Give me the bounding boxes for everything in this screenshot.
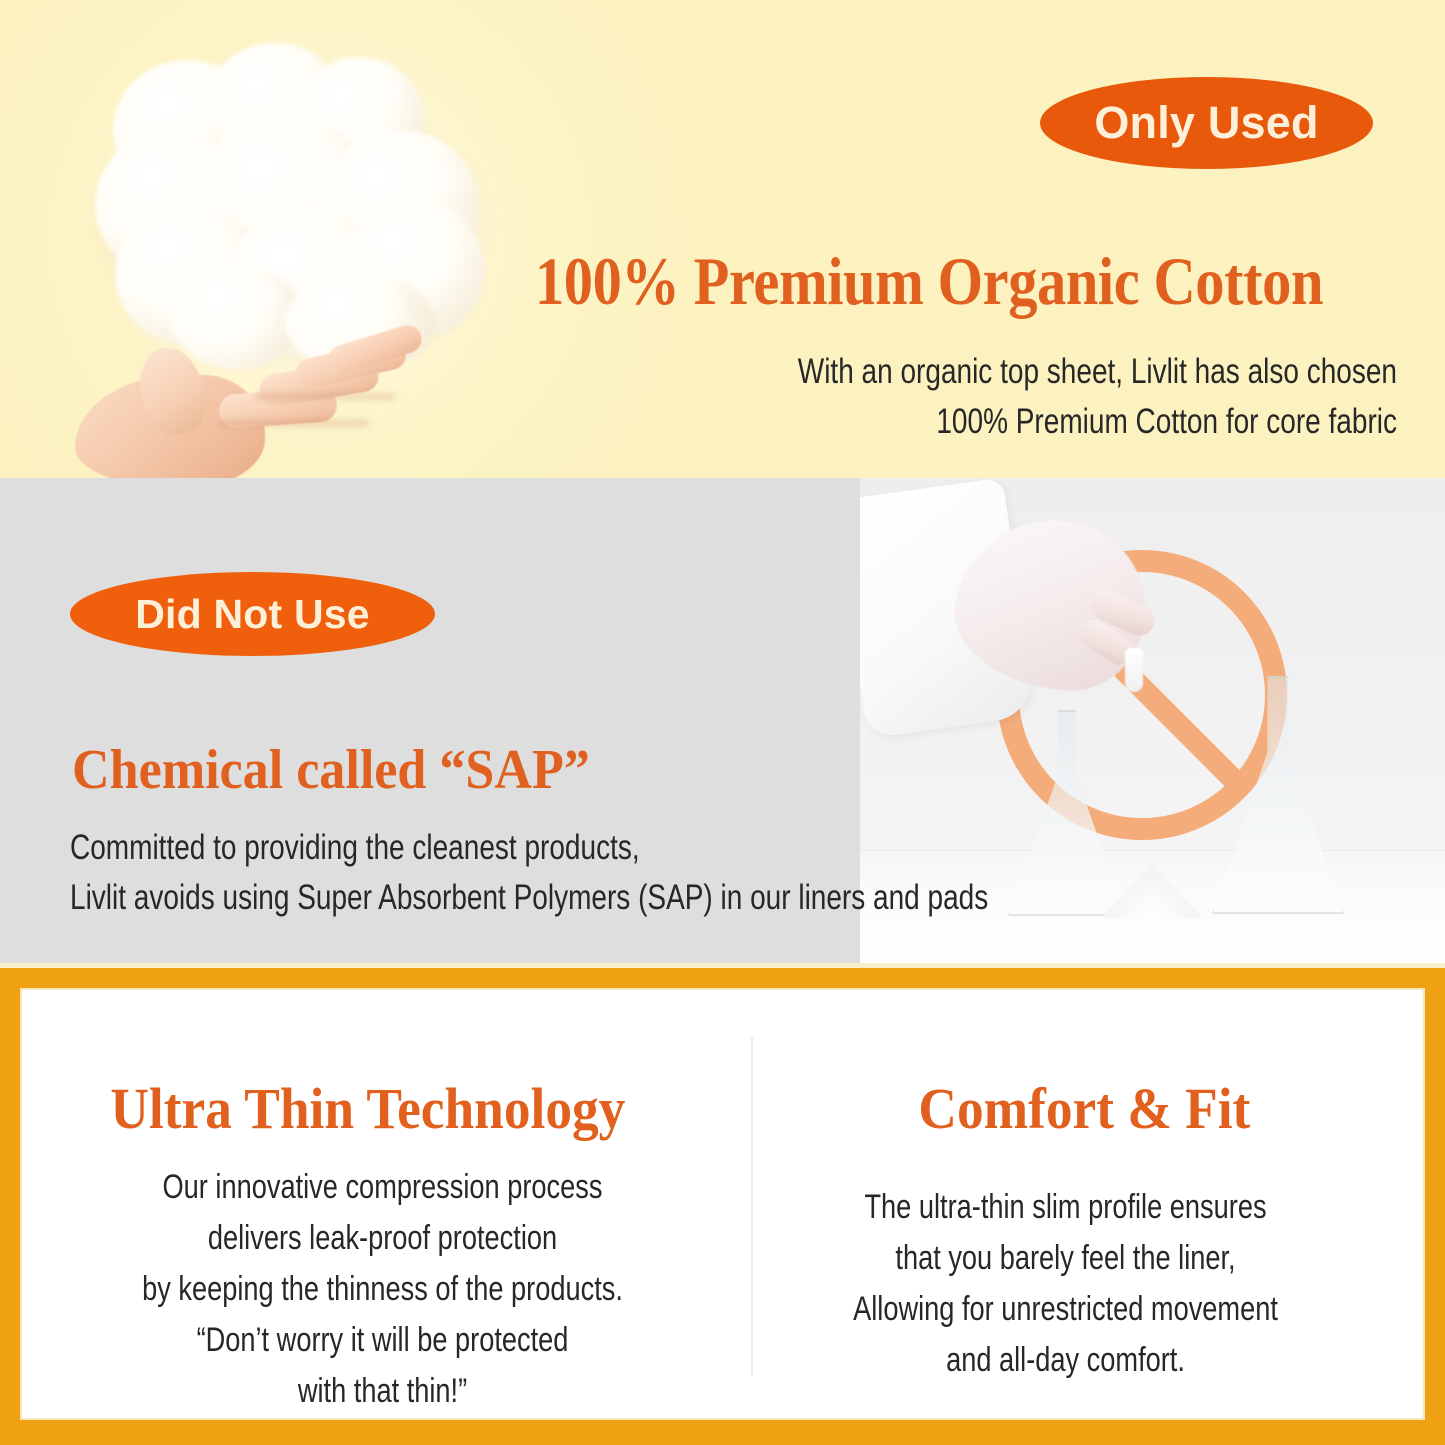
cotton-cloud-photo xyxy=(55,35,525,478)
body-ultra-thin-technology: Our innovative compression process deliv… xyxy=(73,1162,693,1417)
body-comfort-and-fit: The ultra-thin slim profile ensures that… xyxy=(756,1182,1376,1386)
badge-only-used-label: Only Used xyxy=(1094,97,1318,149)
body-chemical-sap: Committed to providing the cleanest prod… xyxy=(70,823,1174,923)
heading-organic-cotton: 100% Premium Organic Cotton xyxy=(535,242,1323,321)
badge-did-not-use: Did Not Use xyxy=(70,572,435,656)
hand-illustration xyxy=(69,323,439,478)
features-column-divider xyxy=(751,1037,753,1375)
heading-ultra-thin-technology: Ultra Thin Technology xyxy=(110,1075,625,1142)
section-organic-cotton: Only Used 100% Premium Organic Cotton Wi… xyxy=(0,0,1445,478)
badge-did-not-use-label: Did Not Use xyxy=(135,591,370,638)
badge-only-used: Only Used xyxy=(1040,77,1373,169)
heading-chemical-sap: Chemical called “SAP” xyxy=(72,738,590,802)
product-infographic-page: Only Used 100% Premium Organic Cotton Wi… xyxy=(0,0,1445,1445)
frame-top-highlight xyxy=(0,963,1445,968)
heading-comfort-and-fit: Comfort & Fit xyxy=(918,1075,1250,1142)
body-organic-cotton: With an organic top sheet, Livlit has al… xyxy=(525,347,1397,447)
finger-shadow xyxy=(255,393,395,400)
finger-shadow xyxy=(219,419,369,427)
powder-pinch xyxy=(1125,648,1143,692)
